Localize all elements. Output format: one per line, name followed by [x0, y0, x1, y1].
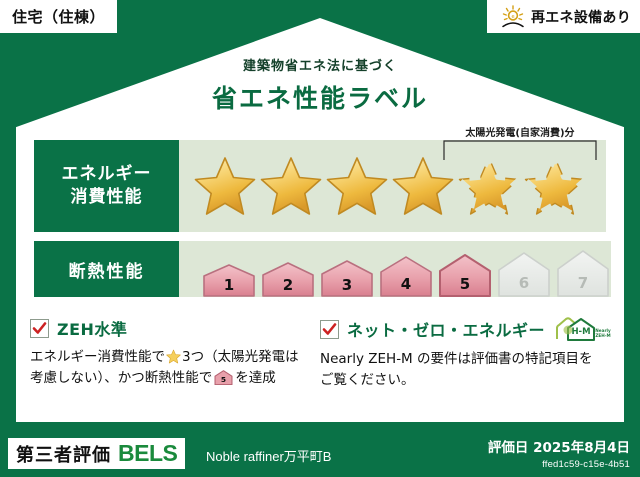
- house-level-1: 1: [201, 263, 257, 297]
- house-level-7: 7: [555, 249, 611, 297]
- insulation-performance-row-label: 断熱性能: [34, 241, 179, 297]
- star-icon-solar-6: [523, 155, 587, 217]
- evaluation-date-label: 評価日: [488, 440, 529, 456]
- svg-text:e: e: [511, 14, 514, 20]
- criterion-zeh-body: エネルギー消費性能で3つ（太陽光発電は考慮しない）、かつ断熱性能で5を達成: [30, 347, 306, 389]
- energy-performance-stars-panel: 太陽光発電(自家消費)分: [179, 140, 606, 232]
- bels-en-label: BELS: [118, 440, 177, 467]
- insulation-performance-row: 断熱性能 1: [34, 241, 606, 297]
- criteria-section: ZEH水準 エネルギー消費性能で3つ（太陽光発電は考慮しない）、かつ断熱性能で5…: [30, 316, 610, 391]
- criterion-nze-title: ネット・ゼロ・エネルギー: [347, 317, 545, 341]
- house-level-2: 2: [260, 261, 316, 297]
- renewable-equipment-label: 再エネ設備あり: [531, 7, 631, 27]
- evaluation-date-value: 2025年8月4日: [533, 440, 630, 456]
- bels-jp-label: 第三者評価: [16, 441, 111, 467]
- criterion-zeh-standard: ZEH水準 エネルギー消費性能で3つ（太陽光発電は考慮しない）、かつ断熱性能で5…: [30, 316, 320, 391]
- svg-text:2: 2: [283, 276, 293, 294]
- criterion-nze-header: ネット・ゼロ・エネルギー H-M Nearly ZEH-M: [320, 316, 596, 342]
- criterion-zeh-title: ZEH水準: [57, 316, 127, 340]
- energy-performance-row: エネルギー 消費性能: [34, 140, 606, 232]
- svg-text:4: 4: [401, 275, 411, 293]
- building-type-label: 住宅（住棟）: [12, 6, 105, 27]
- house-level-5-icon-inline: 5: [214, 370, 233, 385]
- renewable-equipment-badge: e 再エネ設備あり: [487, 0, 640, 33]
- footer-meta: 評価日 2025年8月4日 ffed1c59-c15e-4b51: [488, 436, 630, 470]
- solar-generation-caption: 太陽光発電(自家消費)分: [444, 124, 596, 139]
- star-icon-inline: [166, 349, 181, 364]
- label-subtitle: 建築物省エネ法に基づく: [0, 55, 640, 74]
- criterion-net-zero-energy: ネット・ゼロ・エネルギー H-M Nearly ZEH-M Nearly ZEH…: [320, 316, 610, 391]
- criterion-zeh-header: ZEH水準: [30, 316, 306, 340]
- svg-text:5: 5: [460, 275, 470, 293]
- check-icon: [320, 320, 339, 339]
- check-icon: [30, 319, 49, 338]
- svg-text:5: 5: [221, 375, 226, 384]
- nearly-zeh-m-logo: H-M Nearly ZEH-M: [555, 316, 611, 342]
- house-level-6: 6: [496, 251, 552, 297]
- svg-text:7: 7: [578, 274, 588, 292]
- svg-text:H-M: H-M: [571, 327, 590, 337]
- energy-performance-row-label: エネルギー 消費性能: [34, 140, 179, 232]
- energy-label-line1: エネルギー: [62, 163, 152, 186]
- insulation-level-scale: 1 2 3 4 5: [179, 241, 611, 297]
- criterion-zeh-text-pre: エネルギー消費性能で: [30, 349, 165, 365]
- insulation-label: 断熱性能: [69, 257, 145, 282]
- criterion-zeh-text-post: を達成: [235, 370, 276, 386]
- label-footer: 第三者評価 BELS Noble raffiner万平町B 評価日 2025年8…: [0, 430, 640, 477]
- house-level-4: 4: [378, 255, 434, 297]
- svg-text:6: 6: [519, 274, 529, 292]
- house-level-3: 3: [319, 259, 375, 297]
- label-title-block: 建築物省エネ法に基づく 省エネ性能ラベル: [0, 55, 640, 115]
- energy-performance-label: 住宅（住棟） e 再エネ設備あり 建築物省エネ法に基づく: [0, 0, 640, 477]
- svg-text:3: 3: [342, 276, 352, 294]
- house-level-5: 5: [437, 253, 493, 297]
- energy-label-line2: 消費性能: [71, 186, 143, 209]
- star-icon-solar-5: [457, 155, 521, 217]
- star-icon-filled-4: [391, 155, 455, 217]
- insulation-levels-panel: 1 2 3 4 5: [179, 241, 611, 297]
- building-name: Noble raffiner万平町B: [206, 446, 331, 465]
- bels-logo: 第三者評価 BELS: [8, 438, 185, 469]
- label-title: 省エネ性能ラベル: [0, 79, 640, 115]
- star-icon-filled-1: [193, 155, 257, 217]
- star-rating: [179, 155, 587, 217]
- evaluation-date: 評価日 2025年8月4日: [488, 436, 630, 456]
- label-id: ffed1c59-c15e-4b51: [488, 459, 630, 470]
- criterion-nze-body: Nearly ZEH-M の要件は評価書の特記項目をご覧ください。: [320, 349, 596, 391]
- svg-text:1: 1: [224, 276, 234, 294]
- sun-renewable-icon: e: [500, 5, 526, 29]
- star-icon-filled-2: [259, 155, 323, 217]
- star-icon-filled-3: [325, 155, 389, 217]
- building-type-badge: 住宅（住棟）: [0, 0, 117, 33]
- svg-text:ZEH-M: ZEH-M: [595, 333, 610, 338]
